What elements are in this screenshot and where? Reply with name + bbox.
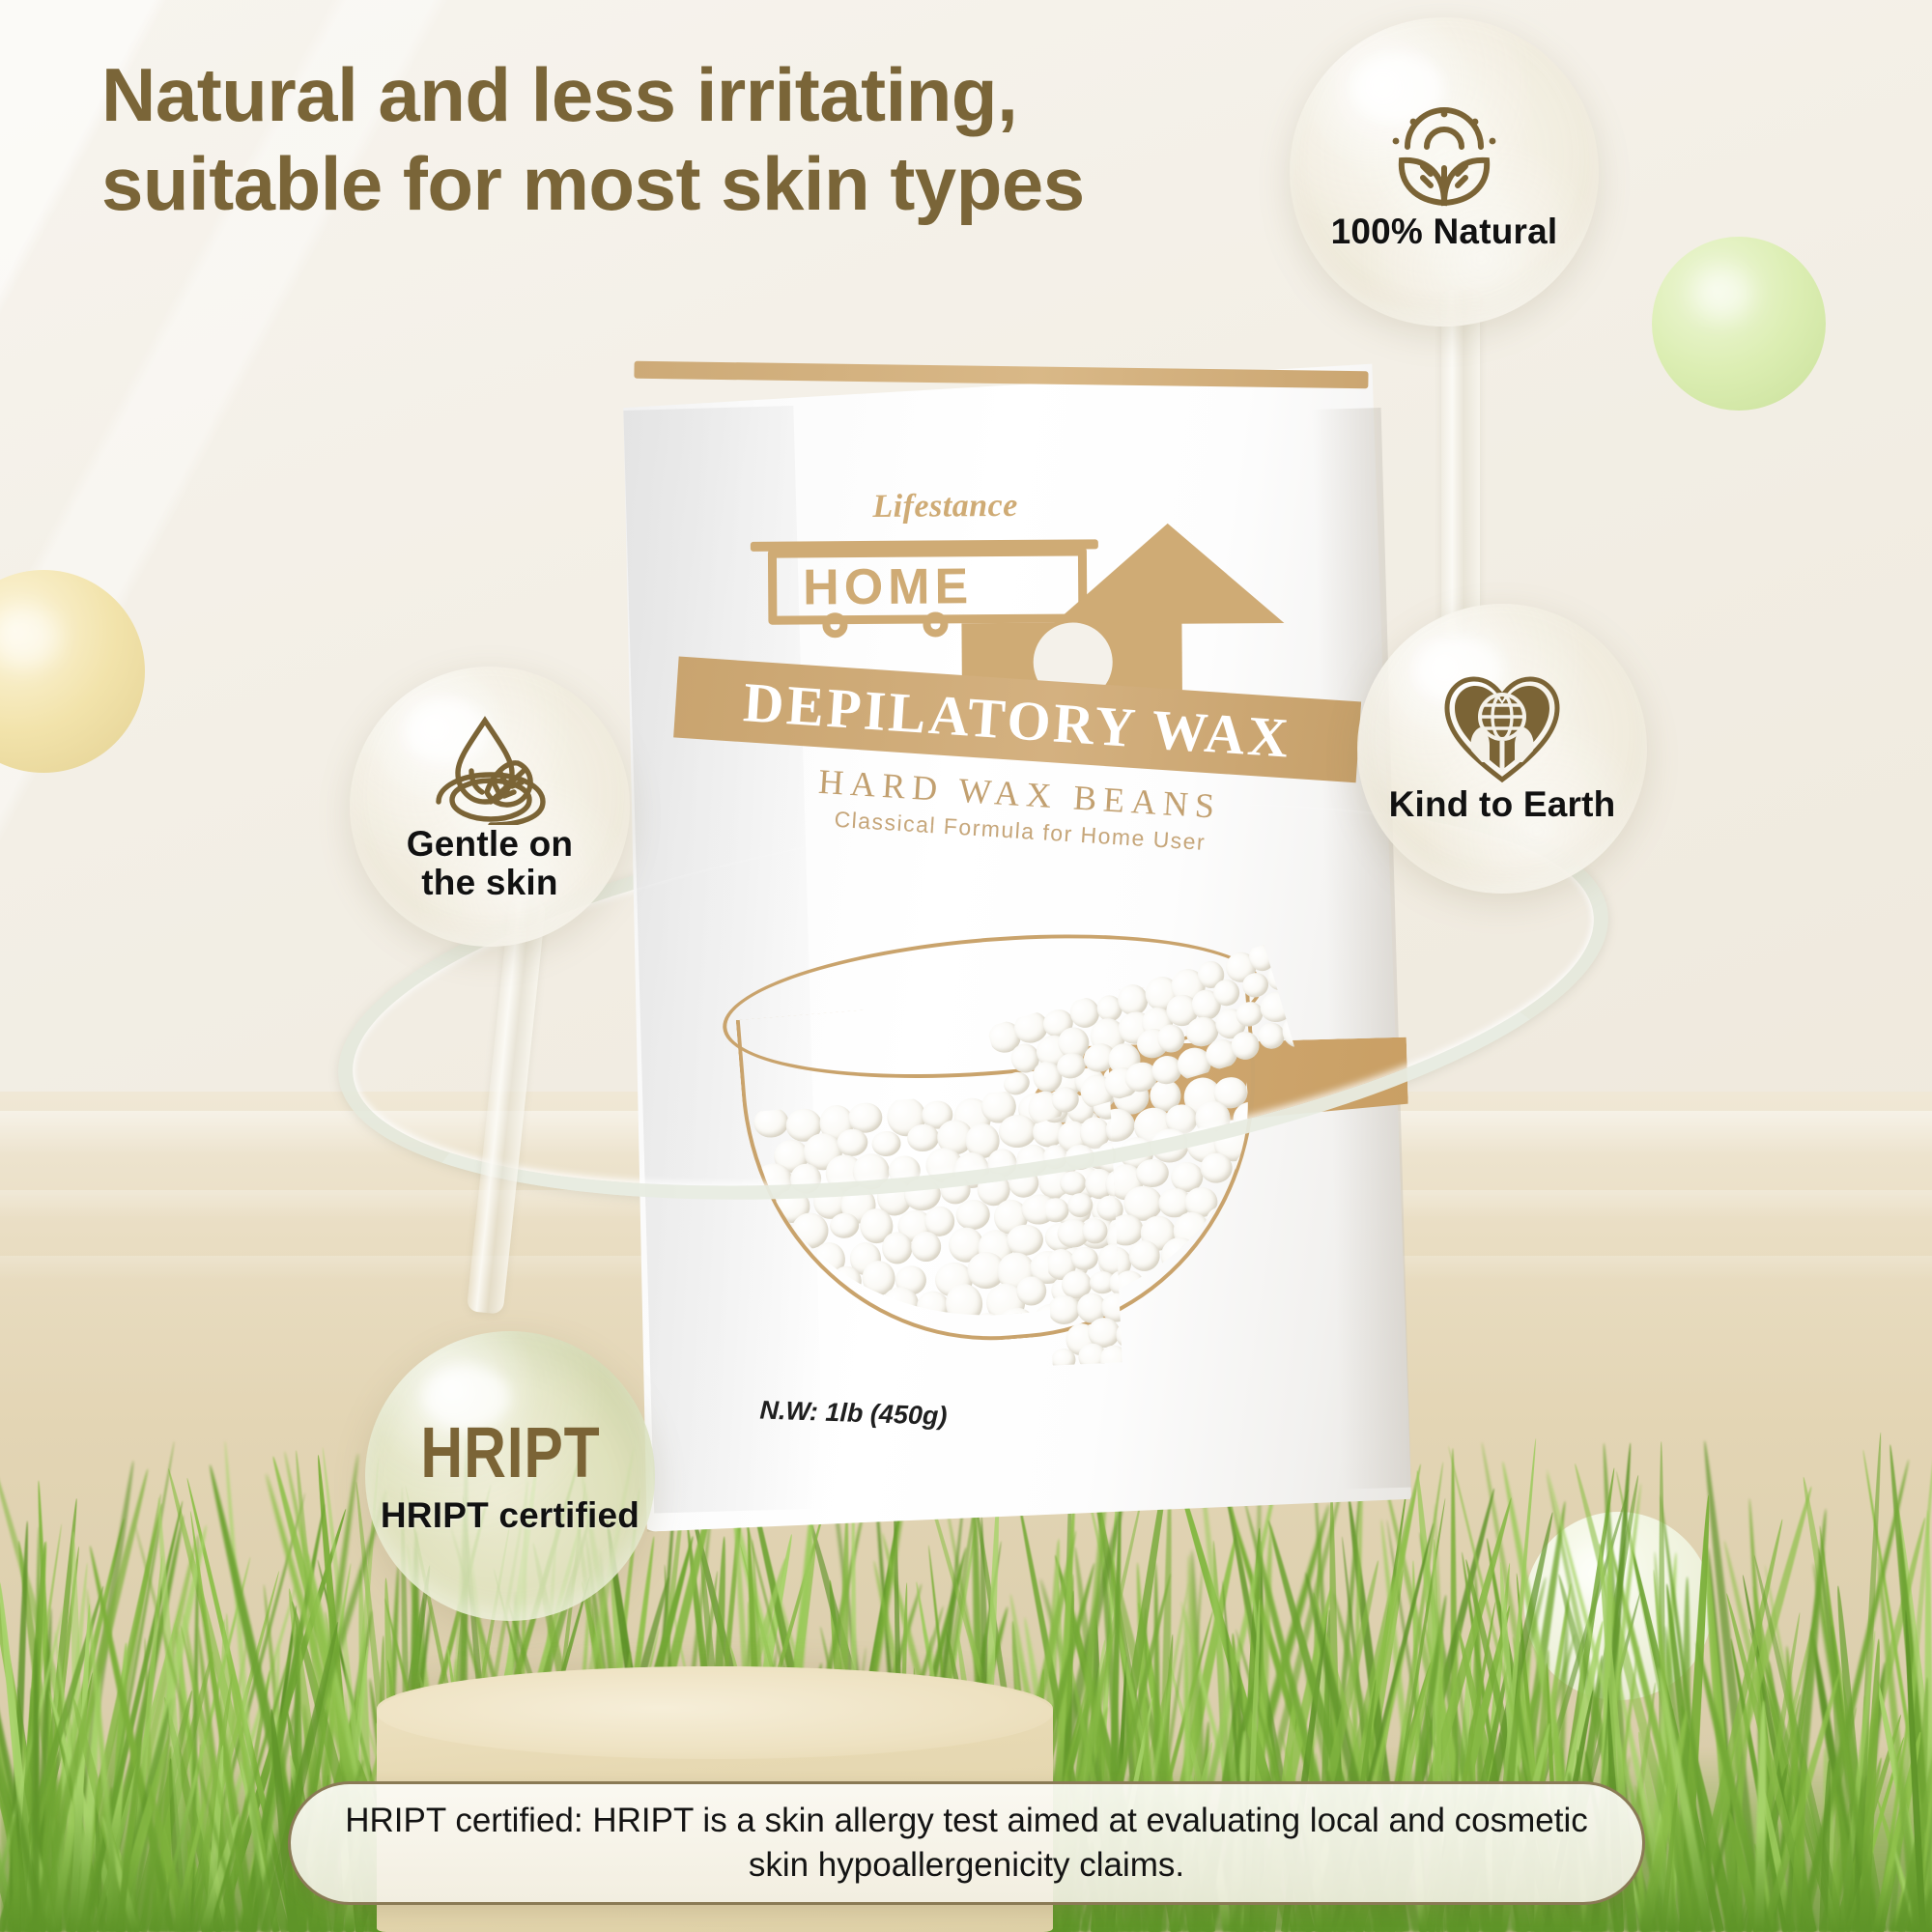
- wax-bean: [762, 1267, 796, 1299]
- wax-bean: [1198, 1294, 1231, 1327]
- wax-bean: [1161, 1293, 1193, 1321]
- logo-home-word: HOME: [803, 561, 973, 612]
- bubble-label: HRIPT certified: [381, 1496, 639, 1535]
- wax-bean: [1082, 1218, 1108, 1244]
- bubble-label: Kind to Earth: [1389, 785, 1616, 824]
- wax-bean: [910, 1231, 942, 1264]
- page-headline: Natural and less irritating, suitable fo…: [101, 50, 1251, 228]
- promo-image-canvas: Lifestance HOME DEPILATORY WAX HARD WAX …: [0, 0, 1932, 1932]
- heart-hands-globe-icon: [1441, 673, 1563, 785]
- podium-top-surface: [377, 1666, 1053, 1759]
- decor-sphere-green: [1652, 237, 1826, 411]
- grass-blade: [32, 1637, 40, 1932]
- wax-bean: [955, 1199, 991, 1231]
- package-logo-block: Lifestance HOME DEPILATORY WAX HARD WAX …: [669, 486, 1337, 649]
- wax-bean: [1261, 1232, 1264, 1265]
- wax-bean: [1067, 1193, 1094, 1218]
- wax-bean: [1047, 1294, 1081, 1325]
- logo-wheel-icon: [822, 612, 847, 638]
- hript-caption-bar: HRIPT certified: HRIPT is a skin allergy…: [288, 1781, 1645, 1905]
- wax-bean: [1252, 1126, 1264, 1160]
- logo-wheel-icon: [923, 611, 948, 637]
- wax-bean: [1070, 1246, 1098, 1271]
- bubble-ball: HRIPT HRIPT certified: [365, 1331, 655, 1621]
- bubble-label: 100% Natural: [1331, 213, 1558, 251]
- hript-wordmark: HRIPT: [420, 1417, 600, 1489]
- bubble-ball: Gentle onthe skin: [350, 667, 630, 947]
- bubble-label: Gentle onthe skin: [407, 825, 573, 902]
- wax-bean: [773, 1327, 806, 1333]
- logo-house-roof-icon: [1052, 523, 1285, 625]
- droplet-leaf-ripple-icon: [429, 711, 551, 825]
- bubble-ball: 100% Natural: [1290, 17, 1599, 327]
- bubble-stem: [1441, 290, 1480, 638]
- wax-bean: [1130, 1292, 1170, 1331]
- wax-bean: [1006, 1223, 1044, 1257]
- home-truck-house-logo: HOME: [733, 517, 1275, 648]
- wax-bean: [1042, 1198, 1069, 1222]
- bubble-ball: Kind to Earth: [1357, 604, 1647, 894]
- sun-leaves-icon: [1380, 93, 1508, 213]
- net-weight-label: N.W: 1lb (450g): [759, 1395, 948, 1431]
- wax-bean: [781, 1240, 811, 1269]
